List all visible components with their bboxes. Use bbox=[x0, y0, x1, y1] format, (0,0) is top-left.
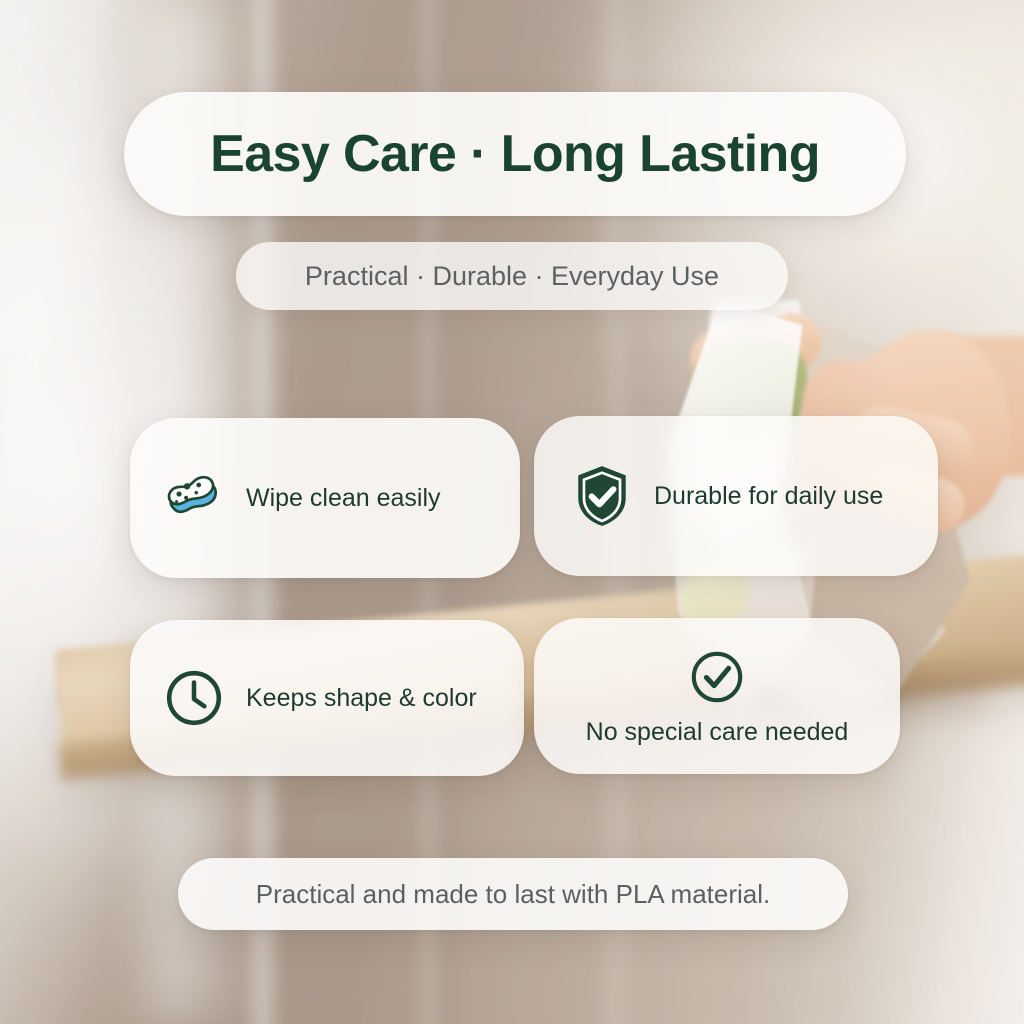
feature-card-wipe-clean[interactable]: Wipe clean easily bbox=[130, 418, 520, 578]
feature-label: Durable for daily use bbox=[654, 482, 883, 511]
infographic-canvas: Easy Care · Long Lasting Practical · Dur… bbox=[0, 0, 1024, 1024]
feature-label: Wipe clean easily bbox=[246, 484, 441, 513]
caption-pill: Practical and made to last with PLA mate… bbox=[178, 858, 848, 930]
footer-caption: Practical and made to last with PLA mate… bbox=[256, 879, 770, 910]
sponge-icon bbox=[158, 462, 230, 534]
feature-card-durable[interactable]: Durable for daily use bbox=[534, 416, 938, 576]
sparkle-icon bbox=[972, 972, 1002, 1002]
page-title: Easy Care · Long Lasting bbox=[210, 124, 820, 184]
clock-icon bbox=[158, 662, 230, 734]
feature-label: Keeps shape & color bbox=[246, 684, 477, 713]
page-subtitle: Practical · Durable · Everyday Use bbox=[305, 261, 719, 292]
feature-label: No special care needed bbox=[586, 718, 849, 747]
shield-check-icon bbox=[566, 460, 638, 532]
subtitle-pill: Practical · Durable · Everyday Use bbox=[236, 242, 788, 310]
feature-card-keeps-shape[interactable]: Keeps shape & color bbox=[130, 620, 524, 776]
feature-card-no-special-care[interactable]: No special care needed bbox=[534, 618, 900, 774]
title-pill: Easy Care · Long Lasting bbox=[124, 92, 906, 216]
check-circle-icon bbox=[686, 646, 748, 708]
